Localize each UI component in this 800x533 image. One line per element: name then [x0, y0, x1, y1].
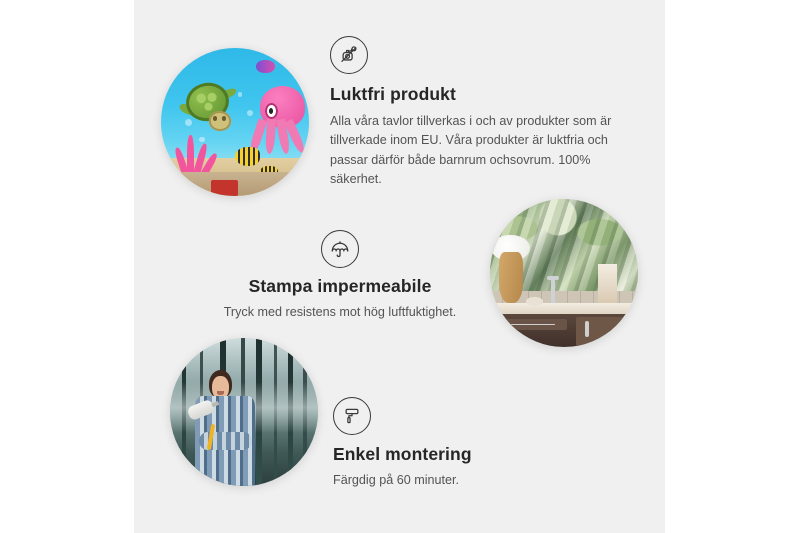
vanity-cabinet	[490, 314, 638, 347]
bathroom-scene	[490, 199, 638, 347]
feature-block-waterproof: Stampa impermeabile Tryck med resistens …	[215, 230, 465, 322]
feature-title: Enkel montering	[333, 444, 583, 466]
smile	[217, 391, 224, 395]
umbrella-icon	[321, 230, 359, 268]
feature-description: Alla våra tavlor tillverkas i och av pro…	[330, 112, 630, 190]
soap-dish	[526, 297, 544, 306]
feature-title: Stampa impermeabile	[215, 276, 465, 298]
vase	[499, 252, 523, 302]
no-fragrance-icon	[330, 36, 368, 74]
underwater-scene	[161, 48, 309, 196]
product-feature-banner: Luktfri produkt Alla våra tavlor tillver…	[0, 0, 800, 533]
room-object	[211, 180, 238, 196]
feature-description: Tryck med resistens mot hög luftfuktighe…	[215, 303, 465, 323]
turtle-head	[209, 111, 231, 130]
faucet	[551, 276, 555, 303]
forest-wallpaper-scene	[170, 338, 318, 486]
woman-figure	[191, 368, 262, 486]
coral-illustration	[176, 135, 217, 176]
fish-illustration	[256, 60, 275, 73]
paint-roller-icon	[333, 397, 371, 435]
octopus-eye	[265, 103, 278, 119]
cabinet-door	[576, 317, 632, 346]
octopus-illustration	[247, 86, 306, 154]
underwater-cartoon-photo	[161, 48, 309, 196]
feature-block-easy-install: Enkel montering Färgdig på 60 minuter.	[333, 397, 583, 490]
hand-towel	[598, 264, 617, 305]
feature-description: Färgdig på 60 minuter.	[333, 471, 583, 491]
woman-paint-roller-forest-photo	[170, 338, 318, 486]
cabinet-drawer	[499, 319, 567, 330]
feature-block-odorless: Luktfri produkt Alla våra tavlor tillver…	[330, 36, 630, 190]
bathroom-tropical-wallpaper-photo	[490, 199, 638, 347]
fish-illustration	[235, 147, 260, 166]
octopus-tentacle	[265, 119, 277, 155]
feature-title: Luktfri produkt	[330, 84, 630, 106]
turtle-illustration	[182, 81, 241, 137]
